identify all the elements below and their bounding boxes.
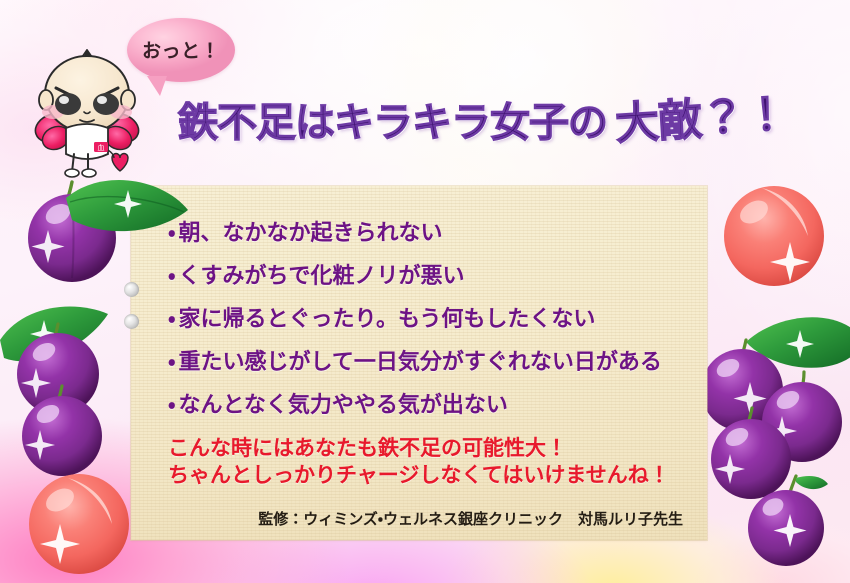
plum-fruit-icon — [740, 474, 836, 570]
cta-line: ちゃんとしっかりチャージしなくてはいけませんね！ — [168, 462, 698, 489]
paper-hole-punch — [124, 314, 139, 329]
speech-bubble-text: おっと！ — [127, 18, 235, 82]
cta-line: こんな時にはあなたも鉄不足の可能性大！ — [168, 435, 698, 462]
call-to-action: こんな時にはあなたも鉄不足の可能性大！ ちゃんとしっかりチャージしなくてはいけま… — [168, 435, 698, 490]
symptom-list: ・朝、なかなか起きられない ・くすみがちで化粧ノリが悪い ・家に帰るとぐったり。… — [168, 222, 698, 416]
svg-text:血: 血 — [98, 143, 105, 152]
list-bullet: ・ — [168, 392, 175, 417]
page-title: 鉄不足はキラキラ女子の 大敵？！ — [178, 88, 768, 150]
list-item: ・なんとなく気力ややる気が出ない — [168, 394, 698, 416]
list-item: ・家に帰るとぐったり。もう何もしたくない — [168, 308, 698, 330]
peach-fruit-icon — [712, 176, 836, 294]
list-item-label: 家に帰るとぐったり。もう何もしたくない — [178, 306, 595, 331]
page-title-main: 鉄不足はキラキラ女子の — [178, 90, 607, 148]
list-item: ・朝、なかなか起きられない — [168, 222, 698, 244]
list-bullet: ・ — [168, 306, 175, 331]
speech-bubble: おっと！ — [127, 18, 235, 82]
list-item: ・くすみがちで化粧ノリが悪い — [168, 265, 698, 287]
leaf-icon — [62, 176, 192, 268]
peach-fruit-icon — [16, 462, 142, 580]
list-item-label: 朝、なかなか起きられない — [178, 220, 442, 245]
list-bullet: ・ — [168, 349, 175, 374]
list-item-label: 重たい感じがして一日気分がすぐれない日がある — [178, 349, 661, 374]
page-title-accent: 大敵？！ — [613, 78, 789, 152]
paper-card: ・朝、なかなか起きられない ・くすみがちで化粧ノリが悪い ・家に帰るとぐったり。… — [131, 186, 707, 540]
paper-hole-punch — [124, 282, 139, 297]
supervisor-credit: 監修：ウィミンズ・ウェルネス銀座クリニック 対馬ルリ子先生 — [168, 508, 683, 529]
poster-root: 血 おっと！ 鉄不足はキラキラ女子の 大敵？！ ・朝、なかなか起きられない — [0, 0, 850, 583]
list-item-label: なんとなく気力ややる気が出ない — [178, 392, 507, 417]
list-item-label: くすみがちで化粧ノリが悪い — [178, 263, 464, 288]
list-item: ・重たい感じがして一日気分がすぐれない日がある — [168, 351, 698, 373]
